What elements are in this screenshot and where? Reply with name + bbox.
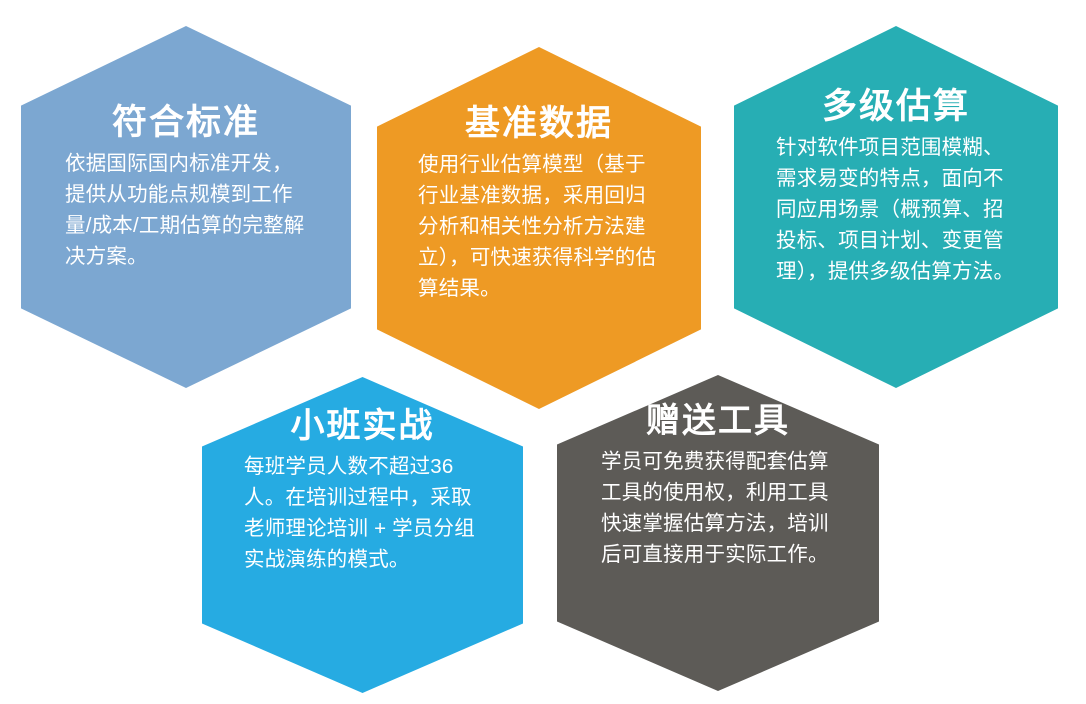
hexagon-title-multilevel: 多级估算: [776, 88, 1016, 126]
hexagon-cell-smallclass[interactable]: 小班实战 每班学员人数不超过36人。在培训过程中，采取老师理论培训 + 学员分组…: [202, 377, 523, 693]
hexagon-cell-multilevel[interactable]: 多级估算 针对软件项目范围模糊、需求易变的特点，面向不同应用场景（概预算、招投标…: [734, 26, 1058, 388]
hexagon-content-multilevel: 多级估算 针对软件项目范围模糊、需求易变的特点，面向不同应用场景（概预算、招投标…: [734, 88, 1058, 288]
hexagon-content-compliance: 符合标准 依据国际国内标准开发，提供从功能点规模到工作量/成本/工期估算的完整解…: [21, 104, 351, 272]
hexagon-body-compliance: 依据国际国内标准开发，提供从功能点规模到工作量/成本/工期估算的完整解决方案。: [65, 148, 307, 273]
hexagon-content-smallclass: 小班实战 每班学员人数不超过36人。在培训过程中，采取老师理论培训 + 学员分组…: [202, 408, 523, 575]
hexagon-body-freetools: 学员可免费获得配套估算工具的使用权，利用工具快速掌握估算方法，培训后可直接用于实…: [601, 446, 835, 571]
hexagon-body-smallclass: 每班学员人数不超过36人。在培训过程中，采取老师理论培训 + 学员分组实战演练的…: [244, 451, 481, 576]
hexagon-feature-diagram: 符合标准 依据国际国内标准开发，提供从功能点规模到工作量/成本/工期估算的完整解…: [0, 0, 1086, 704]
hexagon-content-benchmark: 基准数据 使用行业估算模型（基于行业基准数据，采用回归分析和相关性分析方法建立）…: [377, 105, 701, 305]
hexagon-body-benchmark: 使用行业估算模型（基于行业基准数据，采用回归分析和相关性分析方法建立），可快速获…: [418, 149, 660, 305]
hexagon-cell-freetools[interactable]: 赠送工具 学员可免费获得配套估算工具的使用权，利用工具快速掌握估算方法，培训后可…: [557, 375, 879, 691]
hexagon-title-freetools: 赠送工具: [601, 403, 835, 440]
hexagon-title-compliance: 符合标准: [65, 104, 307, 142]
hexagon-title-smallclass: 小班实战: [244, 408, 481, 445]
hexagon-cell-benchmark[interactable]: 基准数据 使用行业估算模型（基于行业基准数据，采用回归分析和相关性分析方法建立）…: [377, 47, 701, 409]
hexagon-cell-compliance[interactable]: 符合标准 依据国际国内标准开发，提供从功能点规模到工作量/成本/工期估算的完整解…: [21, 26, 351, 388]
hexagon-body-multilevel: 针对软件项目范围模糊、需求易变的特点，面向不同应用场景（概预算、招投标、项目计划…: [776, 132, 1016, 288]
hexagon-content-freetools: 赠送工具 学员可免费获得配套估算工具的使用权，利用工具快速掌握估算方法，培训后可…: [557, 403, 879, 570]
hexagon-title-benchmark: 基准数据: [418, 105, 660, 143]
